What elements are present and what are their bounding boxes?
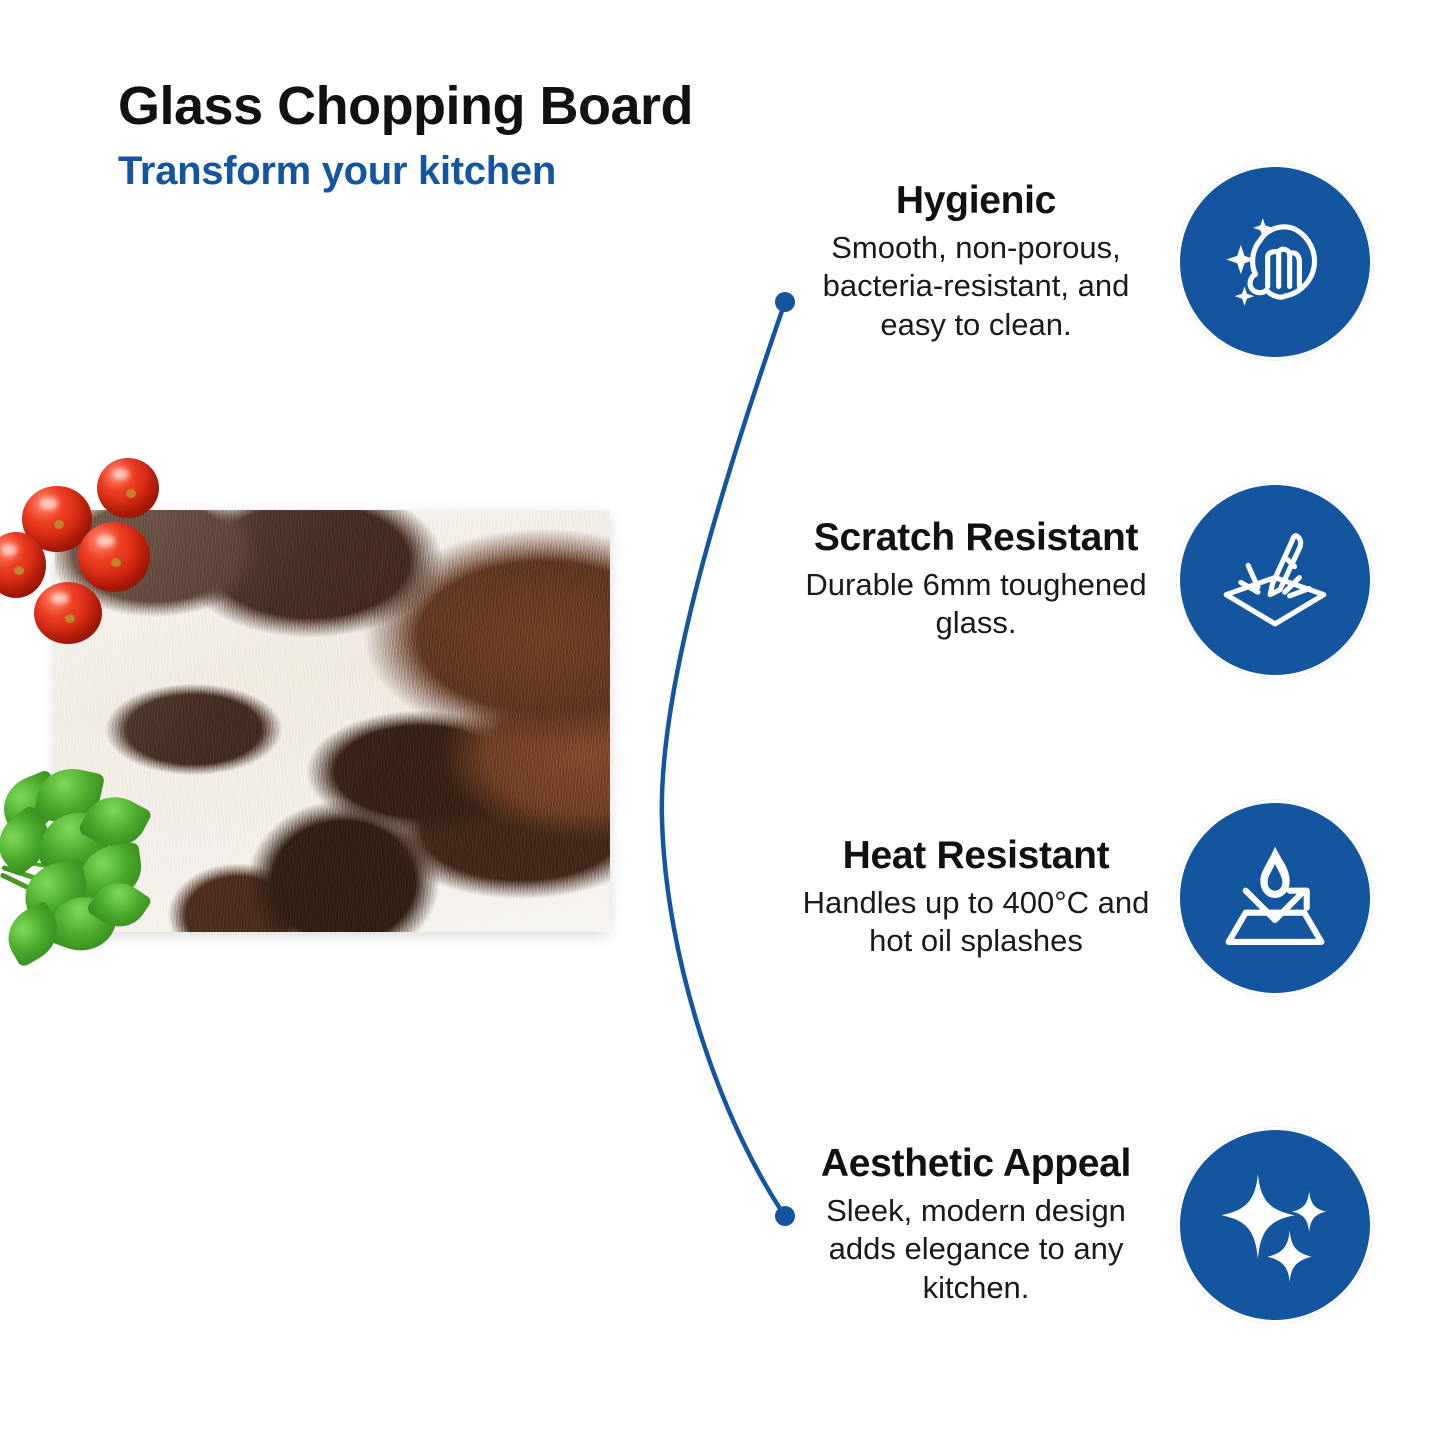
feature-description: Sleek, modern design adds elegance to an… bbox=[790, 1192, 1162, 1307]
flame-shape bbox=[1260, 847, 1289, 898]
feature-title: Heat Resistant bbox=[790, 835, 1162, 878]
feature-icon-badge-hygienic[interactable] bbox=[1180, 167, 1370, 357]
feature-row-aesthetic[interactable]: Aesthetic Appeal Sleek, modern design ad… bbox=[790, 1125, 1380, 1325]
feature-text: Heat Resistant Handles up to 400°C and h… bbox=[790, 835, 1162, 961]
feature-row-heat[interactable]: Heat Resistant Handles up to 400°C and h… bbox=[790, 798, 1380, 998]
feature-description: Handles up to 400°C and hot oil splashes bbox=[790, 884, 1162, 961]
feature-title: Aesthetic Appeal bbox=[790, 1143, 1162, 1186]
knife-impact-surface-icon bbox=[1214, 519, 1336, 641]
product-image bbox=[0, 440, 640, 980]
feature-description: Durable 6mm toughened glass. bbox=[790, 566, 1162, 643]
tomato bbox=[78, 522, 150, 592]
product-infographic: Glass Chopping Board Transform your kitc… bbox=[0, 0, 1445, 1445]
tomato bbox=[34, 582, 102, 644]
feature-row-scratch[interactable]: Scratch Resistant Durable 6mm toughened … bbox=[790, 480, 1380, 680]
feature-title: Scratch Resistant bbox=[790, 517, 1162, 560]
wiping-hand-sparkle-icon bbox=[1214, 201, 1336, 323]
feature-row-hygienic[interactable]: Hygienic Smooth, non-porous, bacteria-re… bbox=[790, 162, 1380, 362]
feature-text: Aesthetic Appeal Sleek, modern design ad… bbox=[790, 1143, 1162, 1307]
header: Glass Chopping Board Transform your kitc… bbox=[118, 78, 878, 193]
parsley-bunch bbox=[0, 760, 159, 975]
feature-icon-badge-scratch[interactable] bbox=[1180, 485, 1370, 675]
page-subtitle: Transform your kitchen bbox=[118, 149, 878, 193]
flame-deflect-arrow-icon bbox=[1214, 837, 1336, 959]
feature-title: Hygienic bbox=[790, 180, 1162, 223]
sparkles-icon bbox=[1214, 1164, 1336, 1286]
feature-icon-badge-heat[interactable] bbox=[1180, 803, 1370, 993]
tomato bbox=[97, 458, 159, 518]
feature-text: Hygienic Smooth, non-porous, bacteria-re… bbox=[790, 180, 1162, 344]
page-title: Glass Chopping Board bbox=[118, 78, 878, 135]
feature-icon-badge-aesthetic[interactable] bbox=[1180, 1130, 1370, 1320]
connector-line bbox=[600, 260, 840, 1260]
feature-text: Scratch Resistant Durable 6mm toughened … bbox=[790, 517, 1162, 643]
connector-curve bbox=[662, 302, 785, 1216]
feature-description: Smooth, non-porous, bacteria-resistant, … bbox=[790, 229, 1162, 344]
